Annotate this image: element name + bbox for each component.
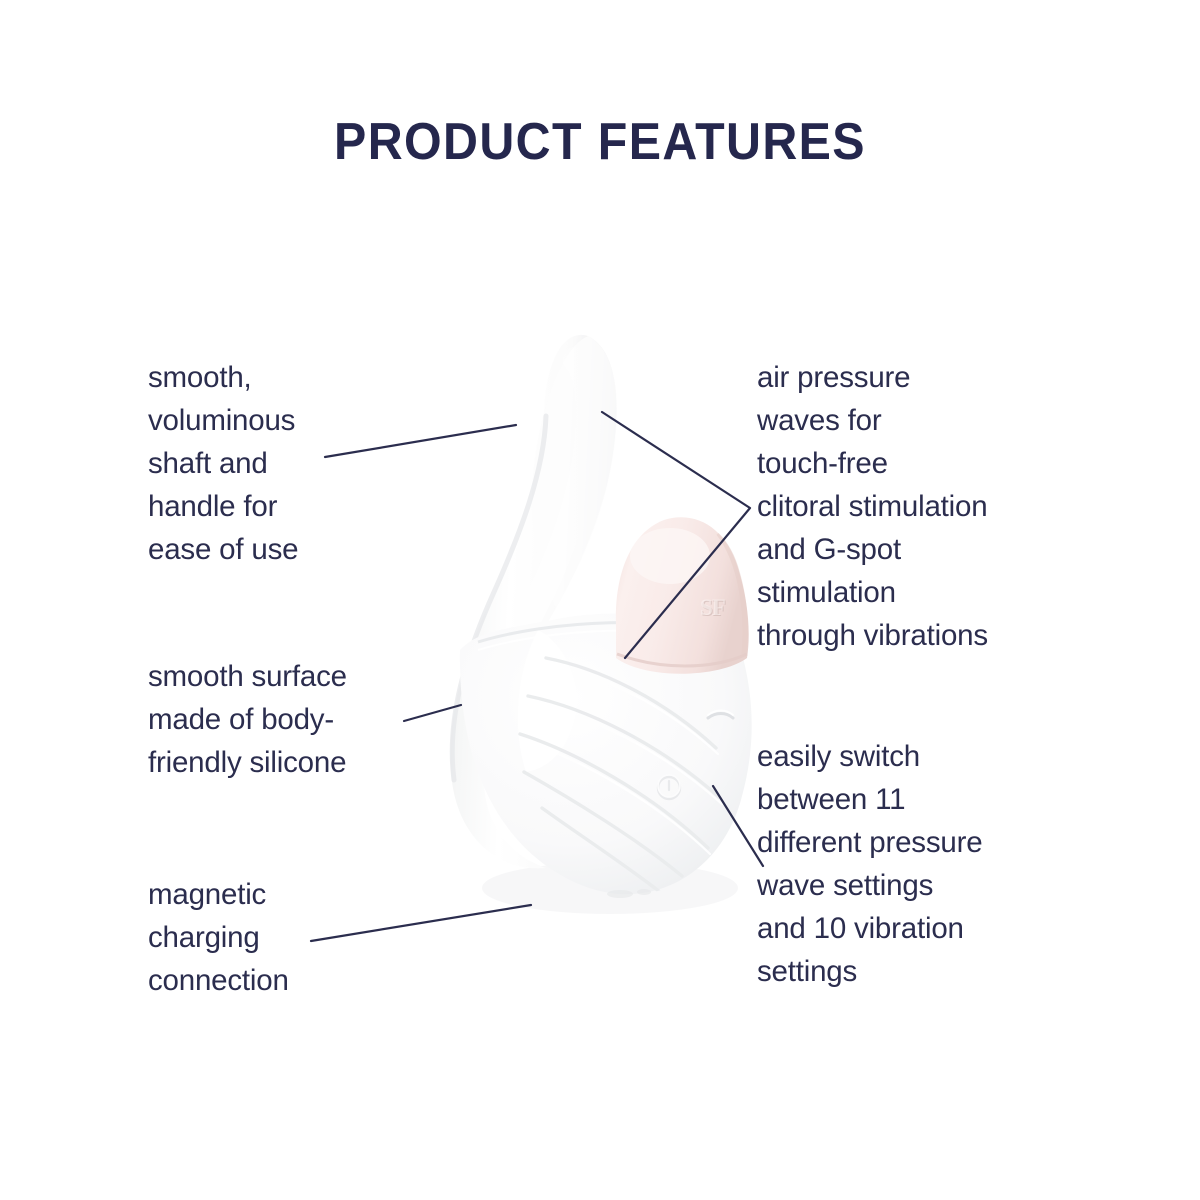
page-title: PRODUCT FEATURES xyxy=(42,112,1158,172)
svg-text:SF: SF xyxy=(700,595,725,620)
callout-magnetic-charging: magnetic charging connection xyxy=(148,873,448,1002)
sf-logo-embossed: SF SF xyxy=(700,595,726,621)
callout-air-pressure-waves: air pressure waves for touch-free clitor… xyxy=(757,356,1087,657)
product-features-page: PRODUCT FEATURES xyxy=(0,0,1200,1200)
callout-smooth-shaft: smooth, voluminous shaft and handle for … xyxy=(148,356,448,571)
product-illustration: SF SF xyxy=(420,320,780,940)
callout-pressure-wave-settings: easily switch between 11 different press… xyxy=(757,735,1087,993)
callout-body-friendly-silicone: smooth surface made of body- friendly si… xyxy=(148,655,468,784)
